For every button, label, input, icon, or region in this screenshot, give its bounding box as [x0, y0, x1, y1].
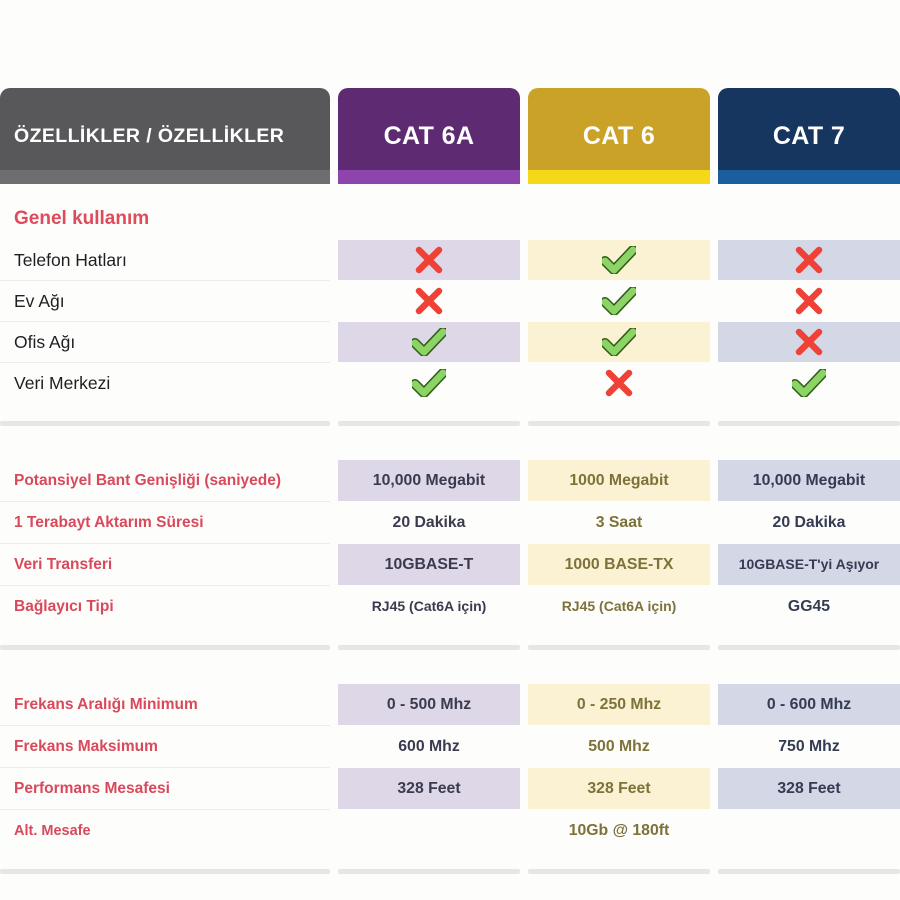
comparison-table: ÖZELLİKLER / ÖZELLİKLER CAT 6A CAT 6 CAT…: [0, 88, 900, 900]
cell-cat6: [528, 322, 710, 362]
column-gap: [520, 322, 528, 362]
header-cell-cat7[interactable]: CAT 7: [718, 88, 900, 184]
header-cat7-label: CAT 7: [718, 122, 900, 151]
cell-cat7: [718, 810, 900, 851]
column-gap: [710, 645, 718, 650]
column-gap: [710, 810, 718, 851]
table-row: Bağlayıcı TipiRJ45 (Cat6A için)RJ45 (Cat…: [0, 586, 900, 627]
table-row: Performans Mesafesi328 Feet328 Feet328 F…: [0, 768, 900, 809]
column-gap: [710, 88, 718, 184]
cell-cat6a: [338, 363, 520, 403]
cell-cat6a: [338, 810, 520, 851]
section-separator: [0, 421, 900, 426]
cell-cat6a: [338, 240, 520, 280]
column-gap: [330, 768, 338, 809]
separator-bar-cat6: [528, 645, 710, 650]
cross-icon: [414, 246, 444, 274]
column-gap: [520, 586, 528, 627]
check-icon: [412, 369, 446, 397]
table-row: Frekans Maksimum600 Mhz500 Mhz750 Mhz: [0, 726, 900, 767]
cell-value: 20 Dakika: [393, 514, 466, 532]
cell-value: 10GBASE-T: [385, 556, 474, 574]
row-label: Telefon Hatları: [0, 240, 330, 280]
cross-icon: [794, 246, 824, 274]
column-gap: [330, 869, 338, 874]
row-label: Frekans Aralığı Minimum: [0, 684, 330, 725]
column-gap: [710, 502, 718, 543]
column-gap: [330, 586, 338, 627]
separator-bar-features: [0, 869, 330, 874]
table-row: Ofis Ağı: [0, 322, 900, 362]
post-section-spacer: [0, 851, 900, 869]
column-gap: [330, 684, 338, 725]
column-gap: [330, 240, 338, 280]
column-gap: [520, 281, 528, 321]
column-gap: [330, 726, 338, 767]
cell-value: 10Gb @ 180ft: [569, 822, 670, 840]
cell-cat6a: 328 Feet: [338, 768, 520, 809]
header-cat7-accent: [718, 170, 900, 184]
cell-cat6a: 10,000 Megabit: [338, 460, 520, 501]
column-gap: [330, 502, 338, 543]
post-section-spacer: [0, 627, 900, 645]
table-header-row: ÖZELLİKLER / ÖZELLİKLER CAT 6A CAT 6 CAT…: [0, 88, 900, 184]
cell-value: 328 Feet: [397, 780, 460, 798]
cell-cat6a: 10GBASE-T: [338, 544, 520, 585]
cell-cat7: 328 Feet: [718, 768, 900, 809]
section-separator: [0, 869, 900, 874]
column-gap: [330, 645, 338, 650]
row-label: Performans Mesafesi: [0, 768, 330, 809]
cell-cat6: [528, 240, 710, 280]
check-icon: [602, 287, 636, 315]
cell-cat7: 750 Mhz: [718, 726, 900, 767]
header-features-accent: [0, 170, 330, 184]
column-gap: [710, 684, 718, 725]
column-gap: [710, 586, 718, 627]
table-row: Potansiyel Bant Genişliği (saniyede)10,0…: [0, 460, 900, 501]
column-gap: [710, 421, 718, 426]
column-gap: [330, 281, 338, 321]
section-spacer: [0, 426, 900, 460]
header-cell-cat6[interactable]: CAT 6: [528, 88, 710, 184]
table-row: Veri Transferi10GBASE-T1000 BASE-TX10GBA…: [0, 544, 900, 585]
cell-cat6: 328 Feet: [528, 768, 710, 809]
cell-value: 500 Mhz: [588, 738, 649, 756]
column-gap: [520, 684, 528, 725]
cell-value: 600 Mhz: [398, 738, 459, 756]
cell-value: 0 - 250 Mhz: [577, 696, 661, 714]
check-icon: [792, 369, 826, 397]
separator-bar-cat6a: [338, 645, 520, 650]
row-label: Potansiyel Bant Genişliği (saniyede): [0, 460, 330, 501]
cross-icon: [794, 328, 824, 356]
column-gap: [520, 502, 528, 543]
cell-value: 20 Dakika: [773, 514, 846, 532]
table-row: Ev Ağı: [0, 281, 900, 321]
cell-value: 1000 BASE-TX: [565, 556, 674, 574]
column-gap: [520, 421, 528, 426]
cell-cat6: 3 Saat: [528, 502, 710, 543]
separator-bar-cat6: [528, 869, 710, 874]
separator-bar-features: [0, 645, 330, 650]
section-separator: [0, 645, 900, 650]
cell-cat6: [528, 363, 710, 403]
column-gap: [520, 645, 528, 650]
cell-value: 1000 Megabit: [569, 472, 668, 490]
row-label: Ofis Ağı: [0, 322, 330, 362]
row-label: Bağlayıcı Tipi: [0, 586, 330, 627]
column-gap: [710, 281, 718, 321]
row-label: Ev Ağı: [0, 281, 330, 321]
header-cat6a-label: CAT 6A: [338, 122, 520, 151]
post-section-spacer: [0, 403, 900, 421]
check-icon: [602, 246, 636, 274]
separator-bar-cat6a: [338, 421, 520, 426]
cell-value: 10,000 Megabit: [753, 472, 865, 490]
column-gap: [520, 460, 528, 501]
column-gap: [710, 363, 718, 403]
header-cat6-label: CAT 6: [528, 122, 710, 151]
cell-value: 10,000 Megabit: [373, 472, 485, 490]
column-gap: [330, 322, 338, 362]
check-icon: [412, 328, 446, 356]
cell-cat6: 1000 BASE-TX: [528, 544, 710, 585]
header-cat6a-accent: [338, 170, 520, 184]
cell-value: 328 Feet: [777, 780, 840, 798]
cell-value: 0 - 600 Mhz: [767, 696, 851, 714]
table-body: Genel kullanımTelefon HatlarıEv AğıOfis …: [0, 184, 900, 874]
row-label: Frekans Maksimum: [0, 726, 330, 767]
separator-bar-features: [0, 421, 330, 426]
column-gap: [710, 544, 718, 585]
column-gap: [710, 869, 718, 874]
cell-cat7: GG45: [718, 586, 900, 627]
column-gap: [520, 88, 528, 184]
row-label: Veri Merkezi: [0, 363, 330, 403]
header-cat6-accent: [528, 170, 710, 184]
header-cell-cat6a[interactable]: CAT 6A: [338, 88, 520, 184]
cell-cat7: [718, 322, 900, 362]
column-gap: [710, 322, 718, 362]
column-gap: [330, 88, 338, 184]
cross-icon: [794, 287, 824, 315]
cell-cat7: [718, 240, 900, 280]
cell-value: 328 Feet: [587, 780, 650, 798]
cell-cat6: RJ45 (Cat6A için): [528, 586, 710, 627]
header-cell-features: ÖZELLİKLER / ÖZELLİKLER: [0, 88, 330, 184]
section-spacer: [0, 650, 900, 684]
cell-cat6: [528, 281, 710, 321]
cell-value: 3 Saat: [596, 514, 643, 532]
cell-cat7: [718, 281, 900, 321]
cell-cat6a: 600 Mhz: [338, 726, 520, 767]
column-gap: [520, 544, 528, 585]
cell-cat7: 0 - 600 Mhz: [718, 684, 900, 725]
cell-cat6a: 0 - 500 Mhz: [338, 684, 520, 725]
table-row: Frekans Aralığı Minimum0 - 500 Mhz0 - 25…: [0, 684, 900, 725]
cell-value: RJ45 (Cat6A için): [372, 599, 487, 615]
table-row: Telefon Hatları: [0, 240, 900, 280]
separator-bar-cat7: [718, 645, 900, 650]
cell-cat6a: [338, 322, 520, 362]
cell-cat6: 0 - 250 Mhz: [528, 684, 710, 725]
column-gap: [710, 240, 718, 280]
column-gap: [520, 240, 528, 280]
column-gap: [710, 726, 718, 767]
cell-value: 0 - 500 Mhz: [387, 696, 471, 714]
column-gap: [330, 363, 338, 403]
row-label: Veri Transferi: [0, 544, 330, 585]
column-gap: [330, 810, 338, 851]
cell-cat6: 10Gb @ 180ft: [528, 810, 710, 851]
cell-value: GG45: [788, 598, 830, 616]
table-row: Alt. Mesafe10Gb @ 180ft: [0, 810, 900, 851]
cross-icon: [414, 287, 444, 315]
section-title: Genel kullanım: [0, 202, 900, 240]
cell-cat6: 1000 Megabit: [528, 460, 710, 501]
cell-cat6: 500 Mhz: [528, 726, 710, 767]
cross-icon: [604, 369, 634, 397]
section-spacer: [0, 184, 900, 202]
separator-bar-cat7: [718, 421, 900, 426]
cell-cat6a: RJ45 (Cat6A için): [338, 586, 520, 627]
column-gap: [330, 544, 338, 585]
row-label: Alt. Mesafe: [0, 810, 330, 851]
table-row: 1 Terabayt Aktarım Süresi20 Dakika3 Saat…: [0, 502, 900, 543]
column-gap: [520, 363, 528, 403]
header-features-label: ÖZELLİKLER / ÖZELLİKLER: [0, 125, 330, 148]
column-gap: [330, 460, 338, 501]
column-gap: [710, 460, 718, 501]
cell-cat7: 10GBASE-T'yi Aşıyor: [718, 544, 900, 585]
cell-cat7: [718, 363, 900, 403]
cell-value: 750 Mhz: [778, 738, 839, 756]
separator-bar-cat6a: [338, 869, 520, 874]
column-gap: [710, 768, 718, 809]
column-gap: [330, 421, 338, 426]
column-gap: [520, 869, 528, 874]
row-label: 1 Terabayt Aktarım Süresi: [0, 502, 330, 543]
cell-value: RJ45 (Cat6A için): [562, 599, 677, 615]
cell-value: 10GBASE-T'yi Aşıyor: [739, 557, 880, 573]
table-row: Veri Merkezi: [0, 363, 900, 403]
cell-cat7: 20 Dakika: [718, 502, 900, 543]
separator-bar-cat7: [718, 869, 900, 874]
cell-cat6a: [338, 281, 520, 321]
column-gap: [520, 768, 528, 809]
column-gap: [520, 810, 528, 851]
check-icon: [602, 328, 636, 356]
cell-cat7: 10,000 Megabit: [718, 460, 900, 501]
column-gap: [520, 726, 528, 767]
cell-cat6a: 20 Dakika: [338, 502, 520, 543]
separator-bar-cat6: [528, 421, 710, 426]
